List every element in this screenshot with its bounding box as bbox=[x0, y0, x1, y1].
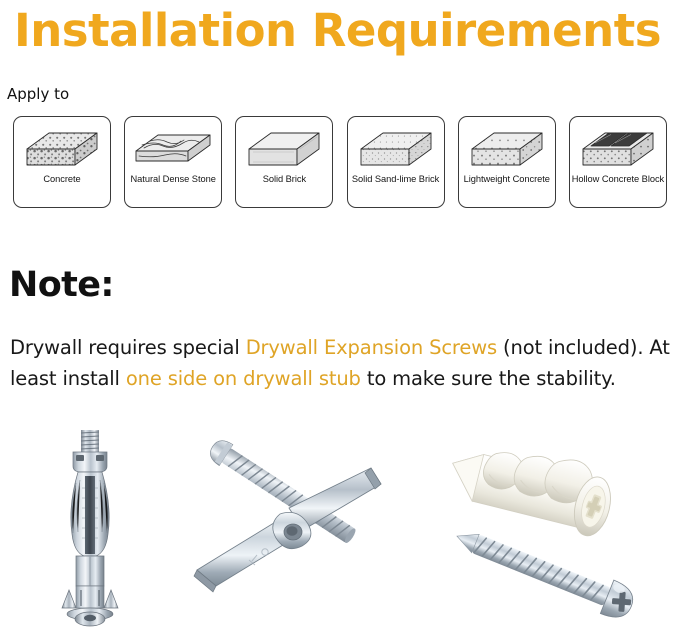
material-label: Hollow Concrete Block bbox=[571, 174, 665, 185]
material-label: Lightweight Concrete bbox=[460, 174, 554, 185]
material-label: Natural Dense Stone bbox=[126, 174, 220, 185]
note-highlight-one-side-on-drywall-stub: one side on drywall stub bbox=[126, 367, 361, 390]
hardware-drywall-anchor-and-screw bbox=[440, 428, 675, 628]
page-title: Installation Requirements bbox=[14, 0, 674, 64]
hollow-block-icon bbox=[575, 121, 661, 173]
material-card-solid-brick: Solid Brick bbox=[235, 116, 333, 208]
material-card-concrete: Concrete bbox=[13, 116, 111, 208]
hardware-toggle-bolt bbox=[185, 432, 390, 628]
note-text-part1: Drywall requires special bbox=[10, 336, 246, 359]
material-card-hollow-concrete-block: Hollow Concrete Block bbox=[569, 116, 667, 208]
fine-speckled-block-icon bbox=[353, 121, 439, 173]
material-label: Concrete bbox=[15, 174, 109, 185]
apply-to-label: Apply to bbox=[7, 85, 69, 103]
hardware-molly-bolt bbox=[40, 428, 140, 628]
material-card-row: Concrete Natural Dense Stone bbox=[13, 116, 667, 208]
material-label: Solid Sand-lime Brick bbox=[349, 174, 443, 185]
note-text-part3: to make sure the stability. bbox=[361, 367, 616, 390]
molly-bolt-photo bbox=[40, 428, 140, 628]
drywall-anchor-photo bbox=[440, 428, 675, 628]
note-heading: Note: bbox=[9, 264, 114, 306]
dotted-block-icon bbox=[464, 121, 550, 173]
stone-slab-icon bbox=[130, 121, 216, 173]
smooth-block-icon bbox=[241, 121, 327, 173]
material-card-natural-dense-stone: Natural Dense Stone bbox=[124, 116, 222, 208]
toggle-bolt-photo bbox=[185, 432, 390, 628]
material-card-lightweight-concrete: Lightweight Concrete bbox=[458, 116, 556, 208]
material-label: Solid Brick bbox=[237, 174, 331, 185]
speckled-block-icon bbox=[19, 121, 105, 173]
note-highlight-drywall-expansion-screws: Drywall Expansion Screws bbox=[246, 336, 497, 359]
note-body: Drywall requires special Drywall Expansi… bbox=[10, 332, 670, 394]
hardware-photo-row bbox=[0, 420, 679, 628]
material-card-solid-sand-lime-brick: Solid Sand-lime Brick bbox=[347, 116, 445, 208]
